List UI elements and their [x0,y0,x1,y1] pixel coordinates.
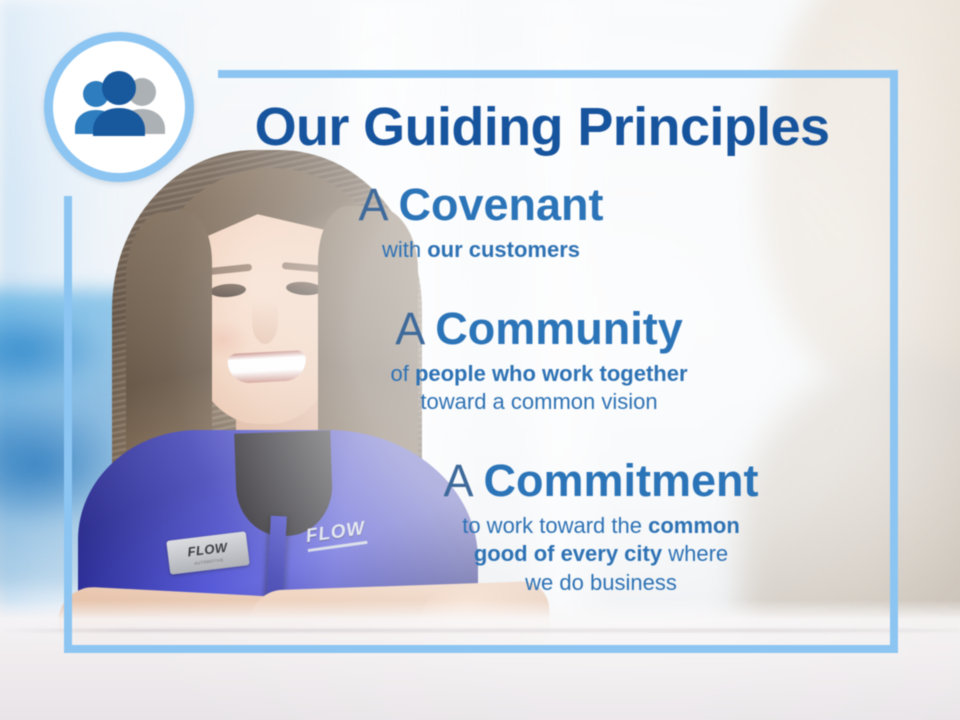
principle-commitment-sub-bold-1: common [648,513,740,538]
principle-commitment-subtext: to work toward the commongood of every c… [192,512,960,598]
principle-commitment-sub-bold-2: good of every city [474,541,662,566]
principle-commitment-article: A [443,455,483,506]
principle-community-sub-plain-1: of [390,361,414,386]
principle-covenant-article: A [358,179,398,230]
page-title: Our Guiding Principles [222,100,862,154]
principle-covenant-sub-plain: with [382,237,427,262]
principle-community: A Community of people who work togethert… [72,306,948,417]
principle-community-subtext: of people who work togethertoward a comm… [130,360,948,417]
principle-covenant-subtext: with our customers [72,236,890,265]
guiding-principles-poster: FLOW AUTOMOTIVE FLOW Our Guiding Princi [0,0,960,720]
principle-commitment-sub-plain-1: to work toward the [462,513,648,538]
principle-commitment-keyword: Commitment [484,455,759,506]
principle-commitment: A Commitment to work toward the commongo… [72,458,960,598]
frame-border-top [218,70,898,78]
principle-covenant-title: A Covenant [72,182,890,229]
text-content: Our Guiding Principles A Covenant with o… [72,78,890,645]
principle-community-sub-plain-2: toward a common vision [420,389,657,414]
frame-border-bottom [64,645,898,653]
principle-commitment-sub-plain-3: we do business [525,570,677,595]
principle-commitment-title: A Commitment [192,458,960,505]
principle-community-keyword: Community [435,303,683,354]
principle-covenant: A Covenant with our customers [72,182,948,264]
principle-covenant-keyword: Covenant [399,179,604,230]
frame-border-left [64,196,72,653]
principle-community-title: A Community [130,306,948,353]
principle-community-article: A [395,303,435,354]
principle-commitment-sub-plain-2: where [662,541,728,566]
principle-covenant-sub-bold: our customers [427,237,580,262]
principle-community-sub-bold-1: people who work together [415,361,688,386]
